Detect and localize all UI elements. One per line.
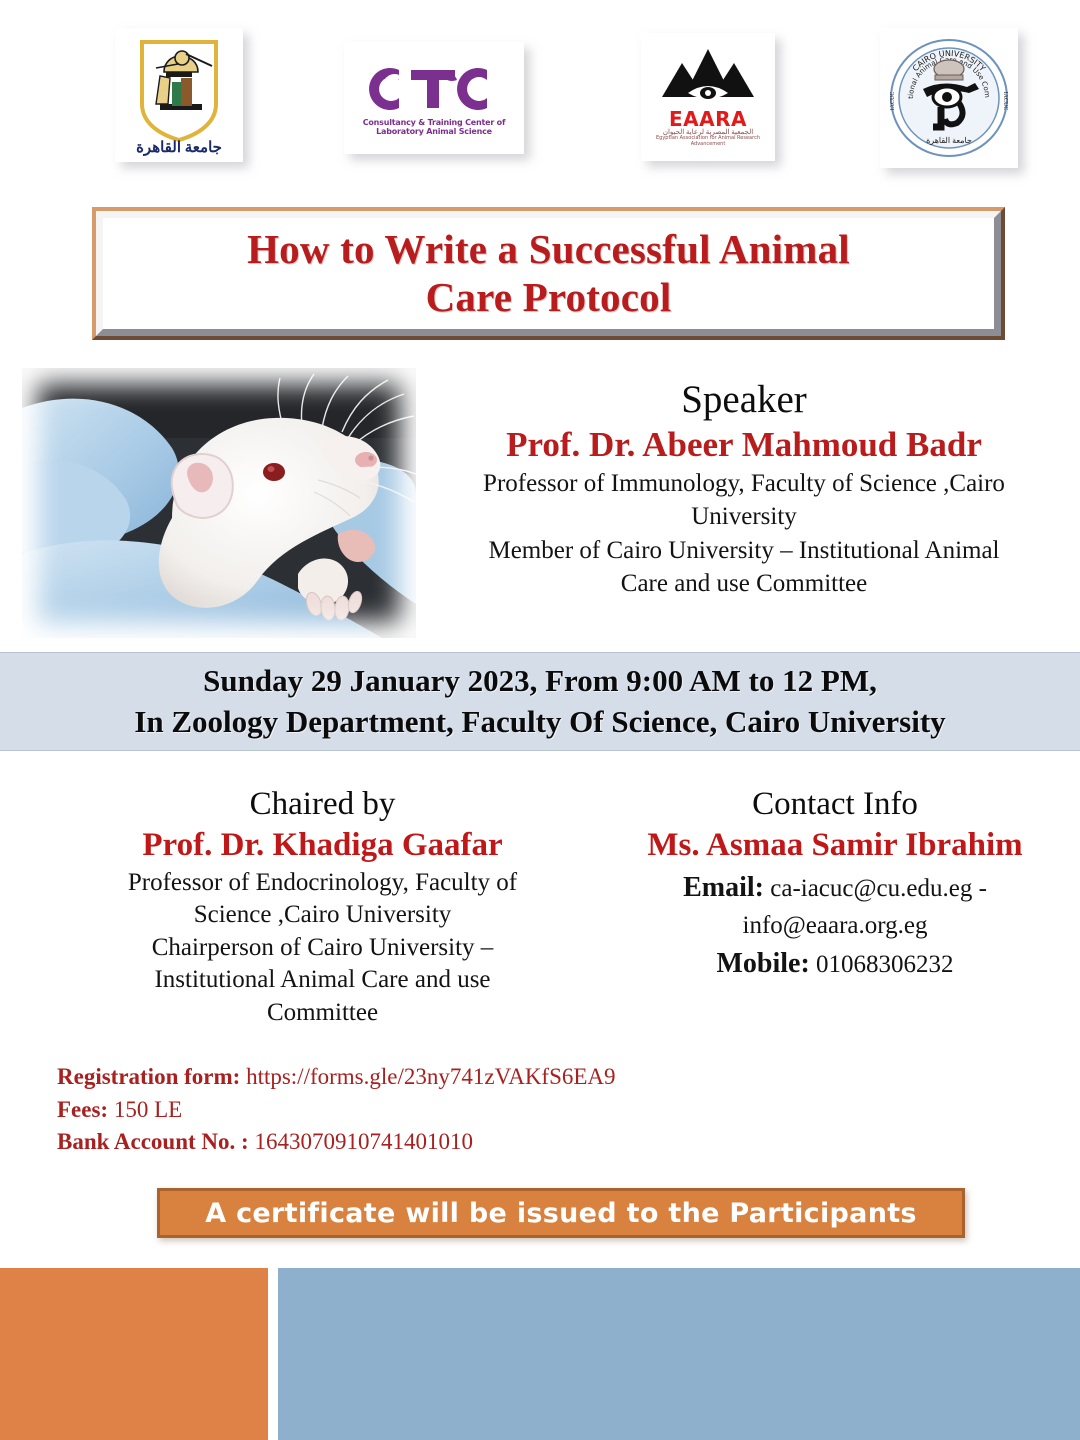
contact-mobile-label: Mobile: — [716, 948, 809, 979]
event-date-line: Sunday 29 January 2023, From 9:00 AM to … — [203, 661, 877, 701]
speaker-detail-line4: Care and use Committee — [440, 569, 1048, 600]
registration-form-label: Registration form: — [57, 1064, 240, 1089]
page-title-line2: Care Protocol — [426, 274, 672, 320]
ctc-logo: Consultancy & Training Center of Laborat… — [344, 42, 524, 154]
contact-mobile-row: Mobile: 01068306232 — [610, 946, 1060, 982]
page-title: How to Write a Successful Animal Care Pr… — [233, 226, 864, 322]
registration-form-url[interactable]: https://forms.gle/23ny741zVAKfS6EA9 — [246, 1064, 615, 1089]
speaker-label: Speaker — [440, 378, 1048, 422]
cairo-university-logo: جامعة القاهرة — [115, 28, 243, 162]
certificate-banner: A certificate will be issued to the Part… — [157, 1188, 965, 1238]
chair-detail-line1: Professor of Endocrinology, Faculty of — [95, 868, 550, 899]
contact-label: Contact Info — [610, 786, 1060, 824]
page-title-line1: How to Write a Successful Animal — [247, 226, 850, 272]
ctc-subtitle-line1: Consultancy & Training Center of — [363, 118, 506, 127]
event-venue-line: In Zoology Department, Faculty Of Scienc… — [134, 702, 945, 742]
ctc-subtitle-line2: Laboratory Animal Science — [376, 127, 492, 136]
chair-detail-line3: Chairperson of Cairo University – — [95, 933, 550, 964]
chair-label: Chaired by — [95, 786, 550, 824]
chair-detail-line2: Science ,Cairo University — [95, 900, 550, 931]
lab-rat-photo-illustration — [22, 368, 416, 638]
registration-fees-row: Fees: 150 LE — [57, 1094, 857, 1127]
eaara-acronym: EAARA — [669, 109, 747, 129]
chair-block: Chaired by Prof. Dr. Khadiga Gaafar Prof… — [95, 786, 550, 1028]
chair-name: Prof. Dr. Khadiga Gaafar — [95, 825, 550, 866]
speaker-block: Speaker Prof. Dr. Abeer Mahmoud Badr Pro… — [440, 378, 1048, 600]
flyer-page: جامعة القاهرة Consultancy & Training Cen… — [0, 0, 1080, 1440]
chair-detail-line5: Committee — [95, 998, 550, 1029]
iacuc-cairo-university-seal: CAIRO UNIVERSITY Institutional Animal Ca… — [880, 28, 1018, 168]
contact-email-row: Email: ca-iacuc@cu.edu.eg - — [610, 870, 1060, 906]
eaara-logo: EAARA الجمعية المصرية لرعاية الحيوان Egy… — [641, 33, 775, 161]
svg-text:IACUC: IACUC — [890, 92, 896, 111]
logo-row: جامعة القاهرة Consultancy & Training Cen… — [0, 0, 1080, 190]
registration-form-row: Registration form: https://forms.gle/23n… — [57, 1061, 857, 1094]
cairo-university-arabic-text: جامعة القاهرة — [115, 141, 243, 156]
eye-of-horus-seal-icon: CAIRO UNIVERSITY Institutional Animal Ca… — [883, 31, 1015, 165]
footer-bar-orange — [0, 1268, 268, 1440]
contact-block: Contact Info Ms. Asmaa Samir Ibrahim Ema… — [610, 786, 1060, 982]
speaker-detail-line1: Professor of Immunology, Faculty of Scie… — [440, 469, 1048, 500]
speaker-detail-line3: Member of Cairo University – Institution… — [440, 536, 1048, 567]
registration-bank-value: 1643070910741401010 — [254, 1129, 473, 1154]
svg-text:IACUC: IACUC — [1002, 92, 1008, 111]
eaara-english-text: Egyptian Association for Animal Research… — [641, 136, 775, 147]
lab-rat-photo — [22, 368, 416, 638]
contact-mobile-value[interactable]: 01068306232 — [816, 951, 954, 978]
title-banner-inner: How to Write a Successful Animal Care Pr… — [96, 211, 1001, 336]
title-banner: How to Write a Successful Animal Care Pr… — [92, 207, 1005, 340]
certificate-text: A certificate will be issued to the Part… — [205, 1198, 917, 1229]
registration-bank-label: Bank Account No. : — [57, 1129, 249, 1154]
registration-block: Registration form: https://forms.gle/23n… — [57, 1061, 857, 1159]
contact-email-value-primary[interactable]: ca-iacuc@cu.edu.eg - — [770, 875, 987, 902]
footer-bar-blue — [278, 1268, 1080, 1440]
contact-email-label: Email: — [683, 872, 764, 903]
contact-email-value-secondary[interactable]: info@eaara.org.eg — [610, 910, 1060, 942]
registration-fees-value: 150 LE — [114, 1097, 182, 1122]
registration-bank-row: Bank Account No. : 1643070910741401010 — [57, 1126, 857, 1159]
svg-text:جامعة القاهرة: جامعة القاهرة — [926, 136, 972, 145]
event-datetime-banner: Sunday 29 January 2023, From 9:00 AM to … — [0, 652, 1080, 751]
chair-detail-line4: Institutional Animal Care and use — [95, 965, 550, 996]
contact-person-name: Ms. Asmaa Samir Ibrahim — [610, 825, 1060, 866]
registration-fees-label: Fees: — [57, 1097, 108, 1122]
speaker-name: Prof. Dr. Abeer Mahmoud Badr — [440, 424, 1048, 466]
eaara-pyramid-eye-icon — [652, 47, 764, 109]
speaker-detail-line2: University — [440, 502, 1048, 533]
ctc-monogram-icon — [359, 60, 509, 118]
